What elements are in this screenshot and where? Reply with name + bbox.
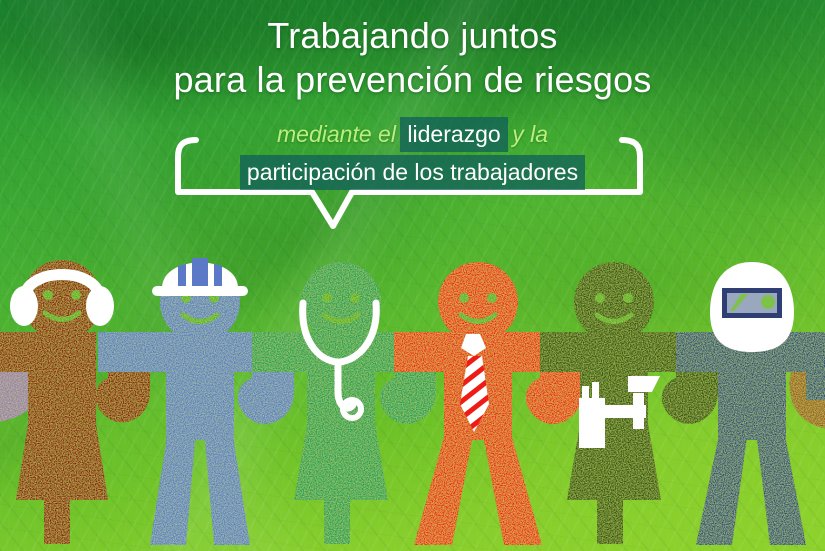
figure-1-leg-left bbox=[44, 492, 70, 544]
poster-canvas: Trabajando juntos para la prevención de … bbox=[0, 0, 825, 551]
figure-1-torso-skirt bbox=[16, 332, 108, 500]
figure-4-eye-right bbox=[487, 293, 497, 303]
hard-hat-brim bbox=[152, 286, 248, 296]
figure-1-eye-right bbox=[71, 290, 81, 300]
figure-3-torso-skirt bbox=[294, 332, 388, 500]
figure-4-leg-right bbox=[482, 430, 542, 545]
figure-6-right-hook bbox=[806, 332, 825, 400]
hard-hat-groove-left bbox=[178, 264, 186, 288]
headline-line-1: Trabajando juntos bbox=[0, 14, 825, 58]
figure-2-leg-right bbox=[204, 430, 250, 545]
figure-5-eye-right bbox=[623, 293, 633, 303]
instrument-head bbox=[628, 376, 660, 392]
instrument-column bbox=[633, 393, 644, 429]
headline-block: Trabajando juntos para la prevención de … bbox=[0, 14, 825, 102]
figure-3-leg-left bbox=[324, 492, 350, 544]
subtitle-line-1: mediante el liderazgo y la bbox=[0, 117, 825, 155]
figure-4-eye-left bbox=[459, 293, 469, 303]
subtitle-block: mediante el liderazgo y la participación… bbox=[0, 117, 825, 193]
hard-hat-icon bbox=[152, 258, 248, 296]
figure-4-leg-left bbox=[414, 430, 474, 545]
figure-3-eye-right bbox=[350, 293, 360, 303]
subtitle-highlight-participacion: participación de los trabajadores bbox=[240, 155, 585, 190]
ear-defenders-cup-right bbox=[86, 286, 114, 326]
subtitle-highlight-liderazgo: liderazgo bbox=[400, 117, 507, 152]
subtitle-italic-pre: mediante el bbox=[277, 121, 396, 147]
hard-hat-groove-right bbox=[214, 264, 222, 288]
figure-5-leg-left bbox=[597, 492, 623, 544]
figure-5-eye-left bbox=[595, 293, 605, 303]
figure-2-leg-left bbox=[150, 430, 196, 545]
figure-6-leg-left bbox=[696, 430, 748, 545]
instrument-post-a bbox=[582, 386, 589, 402]
welding-helmet-visor-reflection bbox=[761, 295, 775, 309]
instrument-post-b bbox=[592, 382, 599, 402]
hard-hat-ridge bbox=[192, 258, 208, 288]
welding-helmet-icon bbox=[710, 262, 794, 352]
headline-line-2: para la prevención de riesgos bbox=[0, 58, 825, 102]
ear-defenders-cup-left bbox=[10, 286, 38, 326]
figure-6-leg-right bbox=[756, 430, 806, 545]
figure-1-eye-left bbox=[43, 290, 53, 300]
subtitle-line-2: participación de los trabajadores bbox=[0, 155, 825, 193]
figure-2-torso bbox=[166, 332, 234, 440]
figure-3-eye-left bbox=[322, 293, 332, 303]
subtitle-italic-post: y la bbox=[512, 121, 548, 147]
